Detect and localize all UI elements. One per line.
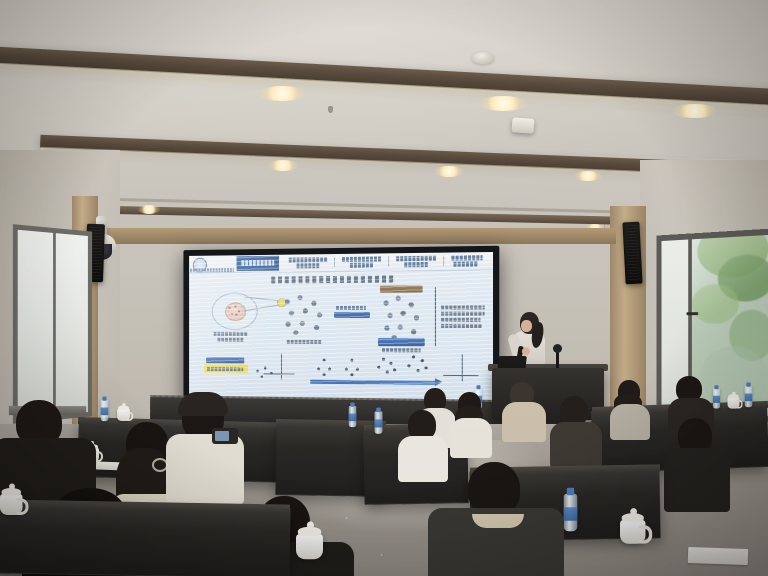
person-torso xyxy=(166,434,244,504)
person-torso xyxy=(398,436,448,482)
bottle-cap xyxy=(715,385,719,389)
person-torso xyxy=(664,448,730,512)
bottle-label xyxy=(564,507,578,521)
lidded-tea-mug xyxy=(728,397,740,408)
water-bottle xyxy=(713,389,720,409)
bottle-cap xyxy=(376,408,381,413)
bottle-label xyxy=(349,414,357,422)
sprinkler-head-icon xyxy=(328,106,333,113)
left-window xyxy=(13,224,92,424)
downlight xyxy=(574,171,602,181)
wall-speaker-right xyxy=(622,222,642,285)
downlight xyxy=(478,96,528,111)
person-collar xyxy=(472,514,524,528)
bottle-cap xyxy=(102,396,106,400)
table-row-front-left xyxy=(0,503,291,576)
mug-knob xyxy=(8,484,14,490)
bottle-label xyxy=(101,408,109,416)
bottle-label xyxy=(713,396,720,403)
bottle-label xyxy=(374,419,382,427)
water-bottle xyxy=(374,411,382,434)
downlight xyxy=(138,205,160,214)
bottle-cap xyxy=(350,402,354,406)
camera-screen xyxy=(215,431,229,441)
person-torso xyxy=(610,404,650,440)
led-video-wall[interactable] xyxy=(183,246,499,411)
downlight xyxy=(258,86,306,101)
person-torso xyxy=(502,402,546,442)
lidded-tea-mug xyxy=(0,494,23,515)
lidded-tea-mug xyxy=(296,534,323,559)
water-bottle xyxy=(564,494,578,532)
window-mullion xyxy=(53,233,56,415)
water-bottle xyxy=(349,406,357,427)
water-bottle xyxy=(101,400,109,421)
smoke-detector-icon xyxy=(472,52,494,64)
downlight xyxy=(672,104,718,118)
screen-glare xyxy=(189,252,493,404)
handheld-camera xyxy=(212,428,238,444)
presenter-face xyxy=(521,320,532,332)
mug-knob xyxy=(732,392,735,395)
mug-knob xyxy=(306,521,313,528)
bottle-cap xyxy=(477,385,481,389)
gooseneck-mic-head xyxy=(553,344,562,353)
ceiling-speaker-box xyxy=(512,117,535,133)
paper-handout xyxy=(688,547,749,565)
downlight xyxy=(268,160,298,171)
speaker-grille xyxy=(625,225,641,282)
person-torso xyxy=(450,418,492,458)
conference-room-photo xyxy=(0,0,768,576)
lidded-tea-mug xyxy=(620,520,646,544)
water-bottle xyxy=(745,386,753,407)
slide-surface xyxy=(189,252,493,404)
downlight xyxy=(434,166,464,177)
window-handle[interactable] xyxy=(686,312,698,315)
bottle-cap xyxy=(746,382,750,386)
person-hat xyxy=(178,392,228,416)
person-torso xyxy=(550,422,602,468)
bottle-label xyxy=(745,394,753,402)
bottle-cap xyxy=(567,488,575,496)
mug-knob xyxy=(629,508,636,515)
lidded-tea-mug xyxy=(117,409,130,421)
wood-header-trim xyxy=(96,228,616,244)
mug-knob xyxy=(122,403,125,406)
